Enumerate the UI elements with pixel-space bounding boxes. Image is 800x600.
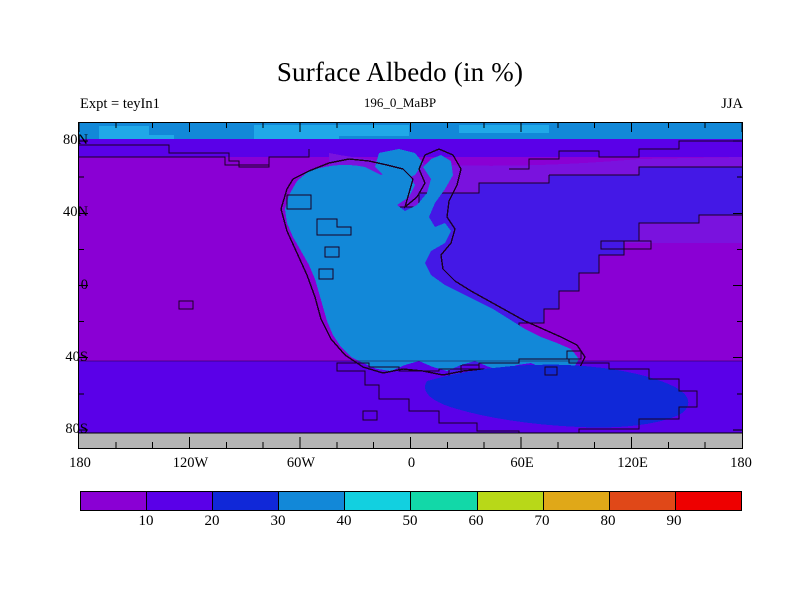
colorbar-tick-90: 90 [667,511,682,531]
colorbar-swatch-2 [213,492,279,510]
y-tick-label-0: 0 [28,277,88,293]
map-plot-area [78,122,743,449]
x-tick-label-0: 0 [408,455,415,472]
experiment-label: Expt = teyIn1 [80,96,160,113]
colorbar-swatch-0 [81,492,147,510]
colorbar-tick-labels: 102030405060708090 [80,511,740,533]
colorbar-swatch-1 [147,492,213,510]
colorbar-tick-80: 80 [601,511,616,531]
x-tick-label-60e: 60E [510,455,533,472]
colorbar-swatch-3 [279,492,345,510]
colorbar-swatch-9 [676,492,741,510]
colorbar-tick-70: 70 [535,511,550,531]
region-polar-patch-c [459,125,549,133]
x-tick-label-120w: 120W [173,455,208,472]
colorbar-tick-10: 10 [139,511,154,531]
colorbar-swatch-4 [345,492,411,510]
y-tick-label-80n: 80N [28,132,88,148]
colorbar-swatch-5 [411,492,477,510]
season-label: JJA [721,96,743,113]
colorbar-swatch-7 [544,492,610,510]
y-tick-label-40s: 40S [28,349,88,365]
y-tick-label-40n: 40N [28,204,88,220]
figure-canvas: Surface Albedo (in %) 196_0_MaBP Expt = … [0,0,800,600]
y-tick-label-80s: 80S [28,421,88,437]
x-tick-label-180e: 180 [730,455,752,472]
colorbar-tick-50: 50 [403,511,418,531]
colorbar-swatch-8 [610,492,676,510]
colorbar [80,491,742,511]
colorbar-tick-30: 30 [271,511,286,531]
colorbar-tick-40: 40 [337,511,352,531]
colorbar-tick-60: 60 [469,511,484,531]
colorbar-swatch-6 [478,492,544,510]
x-tick-label-180w: 180 [69,455,91,472]
albedo-contour-map [79,123,742,448]
x-tick-label-60w: 60W [287,455,315,472]
colorbar-tick-20: 20 [205,511,220,531]
chart-title: Surface Albedo (in %) [0,56,800,88]
x-tick-label-120e: 120E [617,455,648,472]
